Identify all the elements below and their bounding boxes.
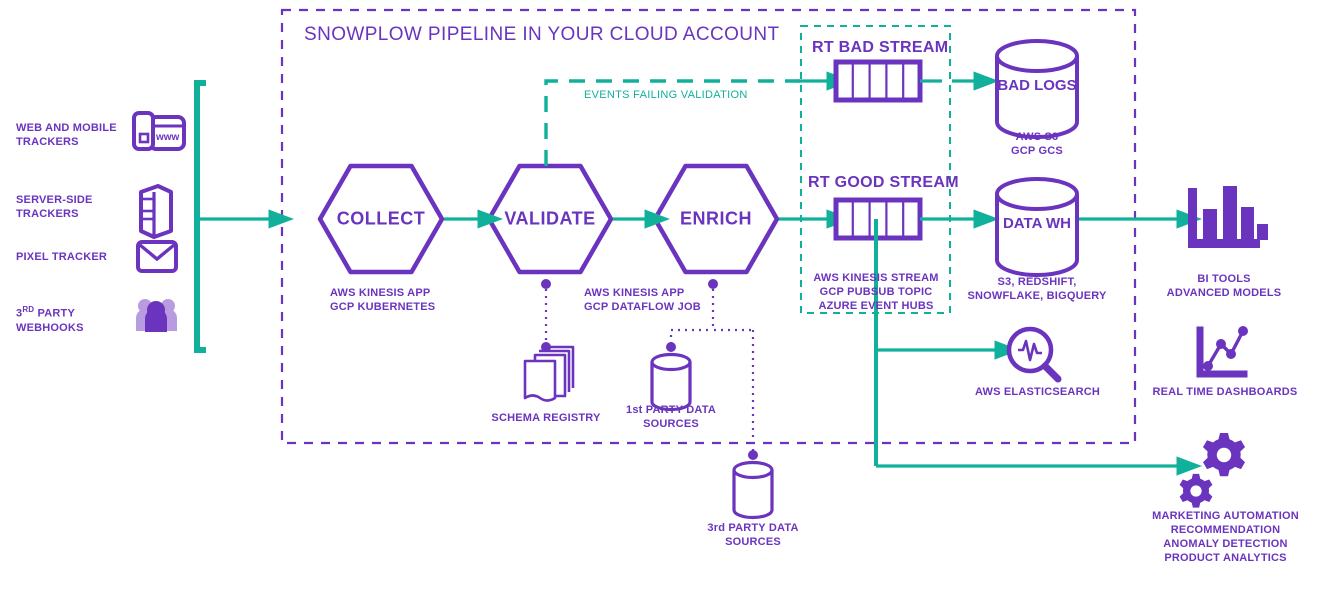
people-icon: [136, 299, 177, 332]
rt-bad-stream-box: [836, 62, 920, 100]
applications-label: MARKETING AUTOMATION RECOMMENDATION ANOM…: [1143, 509, 1308, 565]
applications-gears-icon: [1180, 433, 1245, 508]
data-wh-sublabel: S3, REDSHIFT, SNOWFLAKE, BIGQUERY: [957, 275, 1117, 303]
rt-bad-stream-title: RT BAD STREAM: [812, 39, 948, 57]
stage-collect: COLLECT: [320, 166, 442, 272]
source-label-server-side: SERVER-SIDE TRACKERS: [16, 193, 126, 221]
third-party-attach-dot: [748, 450, 758, 460]
third-party-label: 3rd PARTY DATA SOURCES: [693, 521, 813, 549]
sources-bracket: [197, 83, 206, 350]
source-label-webhooks: 3RD PARTY WEBHOOKS: [16, 303, 126, 335]
envelope-icon: [138, 242, 176, 271]
first-party-branch-link: [671, 330, 713, 344]
mobile-web-icon: www: [134, 113, 184, 149]
first-party-label: 1st PARTY DATA SOURCES: [611, 403, 731, 431]
stage-validate: VALIDATE: [489, 166, 611, 272]
source-label-web-mobile: WEB AND MOBILE TRACKERS: [16, 121, 126, 149]
stage-collect-sublabel: AWS KINESIS APP GCP KUBERNETES: [330, 286, 500, 314]
svg-text:www: www: [155, 132, 180, 143]
dashboards-line-chart-icon: [1200, 326, 1248, 374]
bi-tools-label: BI TOOLS ADVANCED MODELS: [1154, 272, 1294, 300]
first-party-attach-dot: [666, 342, 676, 352]
webhooks-ordinal-sup: RD: [22, 305, 34, 314]
elasticsearch-label: AWS ELASTICSEARCH: [965, 385, 1110, 399]
bad-logs-title: BAD LOGS: [997, 77, 1077, 95]
bad-logs-sublabel: AWS S3 GCP GCS: [977, 130, 1097, 158]
pipeline-title: SNOWPLOW PIPELINE IN YOUR CLOUD ACCOUNT: [304, 24, 780, 46]
source-label-pixel-tracker: PIXEL TRACKER: [16, 250, 136, 264]
data-wh-title: DATA WH: [997, 215, 1077, 233]
failing-validation-label: EVENTS FAILING VALIDATION: [584, 89, 748, 101]
stage-collect-label: COLLECT: [320, 209, 442, 230]
third-party-cylinder-icon: [734, 463, 772, 518]
rt-good-stream-title: RT GOOD STREAM: [808, 174, 959, 192]
architecture-diagram: www SNOWPLOW PIPELINE IN YOUR CLOUD ACCO…: [0, 0, 1317, 592]
dashboards-label: REAL TIME DASHBOARDS: [1150, 385, 1300, 399]
streams-sublabel: AWS KINESIS STREAM GCP PUBSUB TOPIC AZUR…: [806, 271, 946, 313]
schema-registry-documents-icon: [525, 347, 573, 401]
elasticsearch-magnifier-pulse-icon: [1009, 329, 1058, 379]
stage-validate-label: VALIDATE: [489, 209, 611, 230]
server-icon: [141, 186, 171, 237]
first-party-cylinder-icon: [652, 355, 690, 410]
schema-registry-label: SCHEMA REGISTRY: [486, 411, 606, 425]
stage-enrich: ENRICH: [655, 166, 777, 272]
stage-enrich-label: ENRICH: [655, 209, 777, 230]
validate-attach-dot: [541, 279, 551, 289]
bi-tools-bar-chart-icon: [1188, 186, 1268, 248]
stage-validate-sublabel: AWS KINESIS APP GCP DATAFLOW JOB: [584, 286, 774, 314]
